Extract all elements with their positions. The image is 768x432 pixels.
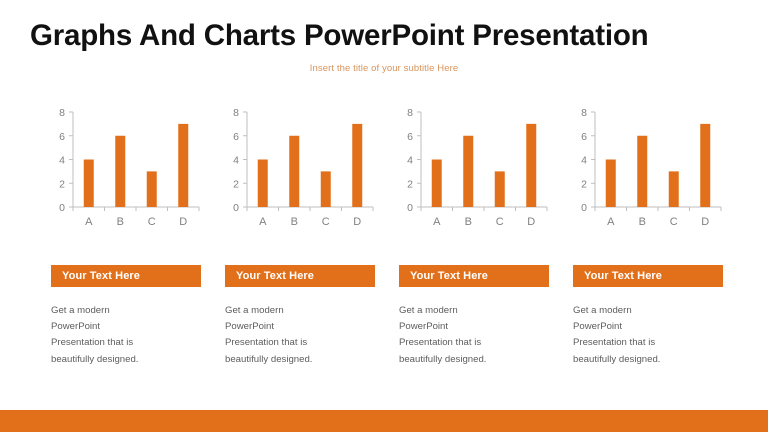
x-axis-category-label: C xyxy=(670,216,678,228)
y-axis-tick-label: 0 xyxy=(581,202,587,214)
x-axis-category-label: A xyxy=(259,216,267,228)
body-text-line: Presentation that is xyxy=(51,335,179,351)
y-axis-tick-label: 2 xyxy=(233,178,239,190)
slide: Graphs And Charts PowerPoint Presentatio… xyxy=(0,0,768,432)
y-axis-tick-label: 2 xyxy=(407,178,413,190)
bar-D[interactable] xyxy=(352,124,362,207)
bar-A[interactable] xyxy=(84,160,94,208)
body-text-line: Get a modern xyxy=(399,303,527,319)
y-axis-tick-label: 6 xyxy=(407,131,413,143)
x-axis-category-label: A xyxy=(433,216,441,228)
x-axis-category-label: D xyxy=(701,216,709,228)
body-text-2: Get a modernPowerPointPresentation that … xyxy=(225,303,353,368)
bar-chart-4[interactable]: 02468ABCD xyxy=(570,104,730,234)
x-axis-category-label: B xyxy=(117,216,124,228)
bar-B[interactable] xyxy=(637,136,647,207)
bar-chart-2[interactable]: 02468ABCD xyxy=(222,104,382,234)
body-text-1: Get a modernPowerPointPresentation that … xyxy=(51,303,179,368)
text-banner-2[interactable]: Your Text Here xyxy=(225,265,375,287)
body-text-line: beautifully designed. xyxy=(399,352,527,368)
bar-A[interactable] xyxy=(432,160,442,208)
bar-A[interactable] xyxy=(606,160,616,208)
chart-canvas: 02468ABCD xyxy=(570,104,730,234)
bar-D[interactable] xyxy=(526,124,536,207)
text-banner-1[interactable]: Your Text Here xyxy=(51,265,201,287)
x-axis-category-label: C xyxy=(322,216,330,228)
x-axis-category-label: D xyxy=(353,216,361,228)
text-banner-4[interactable]: Your Text Here xyxy=(573,265,723,287)
bar-C[interactable] xyxy=(495,171,505,207)
x-axis-category-label: B xyxy=(291,216,298,228)
body-text-line: beautifully designed. xyxy=(573,352,701,368)
y-axis-tick-label: 4 xyxy=(407,155,413,167)
chart-canvas: 02468ABCD xyxy=(48,104,208,234)
page-title: Graphs And Charts PowerPoint Presentatio… xyxy=(30,19,745,52)
y-axis-tick-label: 8 xyxy=(581,107,587,119)
bar-chart-3[interactable]: 02468ABCD xyxy=(396,104,556,234)
x-axis-category-label: C xyxy=(496,216,504,228)
text-banner-label: Your Text Here xyxy=(584,270,662,282)
body-text-line: PowerPoint xyxy=(573,319,701,335)
text-banner-label: Your Text Here xyxy=(410,270,488,282)
y-axis-tick-label: 8 xyxy=(233,107,239,119)
page-subtitle: Insert the title of your subtitle Here xyxy=(0,63,768,74)
body-text-line: beautifully designed. xyxy=(225,352,353,368)
y-axis-tick-label: 6 xyxy=(233,131,239,143)
y-axis-tick-label: 4 xyxy=(233,155,239,167)
bar-C[interactable] xyxy=(147,171,157,207)
charts-row: 02468ABCD 02468ABCD 02468ABCD 02468ABCD xyxy=(0,104,768,234)
x-axis-category-label: D xyxy=(179,216,187,228)
body-text-line: PowerPoint xyxy=(225,319,353,335)
y-axis-tick-label: 6 xyxy=(581,131,587,143)
bar-B[interactable] xyxy=(289,136,299,207)
x-axis-category-label: C xyxy=(148,216,156,228)
bar-B[interactable] xyxy=(463,136,473,207)
bar-A[interactable] xyxy=(258,160,268,208)
body-text-line: Get a modern xyxy=(225,303,353,319)
bar-C[interactable] xyxy=(321,171,331,207)
x-axis-category-label: A xyxy=(85,216,93,228)
y-axis-tick-label: 8 xyxy=(59,107,65,119)
body-text-3: Get a modernPowerPointPresentation that … xyxy=(399,303,527,368)
body-text-line: beautifully designed. xyxy=(51,352,179,368)
y-axis-tick-label: 2 xyxy=(581,178,587,190)
y-axis-tick-label: 0 xyxy=(233,202,239,214)
body-text-line: PowerPoint xyxy=(51,319,179,335)
x-axis-category-label: B xyxy=(465,216,472,228)
body-text-line: Get a modern xyxy=(573,303,701,319)
bar-D[interactable] xyxy=(700,124,710,207)
body-text-4: Get a modernPowerPointPresentation that … xyxy=(573,303,701,368)
y-axis-tick-label: 0 xyxy=(407,202,413,214)
y-axis-tick-label: 0 xyxy=(59,202,65,214)
x-axis-category-label: D xyxy=(527,216,535,228)
y-axis-tick-label: 6 xyxy=(59,131,65,143)
body-text-line: Get a modern xyxy=(51,303,179,319)
footer-accent-bar xyxy=(0,410,768,432)
body-text-line: Presentation that is xyxy=(399,335,527,351)
bar-chart-1[interactable]: 02468ABCD xyxy=(48,104,208,234)
body-text-line: Presentation that is xyxy=(573,335,701,351)
body-text-line: PowerPoint xyxy=(399,319,527,335)
bar-C[interactable] xyxy=(669,171,679,207)
text-banner-label: Your Text Here xyxy=(62,270,140,282)
body-text-line: Presentation that is xyxy=(225,335,353,351)
x-axis-category-label: B xyxy=(639,216,646,228)
bar-B[interactable] xyxy=(115,136,125,207)
chart-canvas: 02468ABCD xyxy=(396,104,556,234)
x-axis-category-label: A xyxy=(607,216,615,228)
y-axis-tick-label: 2 xyxy=(59,178,65,190)
text-banner-label: Your Text Here xyxy=(236,270,314,282)
bar-D[interactable] xyxy=(178,124,188,207)
y-axis-tick-label: 4 xyxy=(581,155,587,167)
y-axis-tick-label: 8 xyxy=(407,107,413,119)
chart-canvas: 02468ABCD xyxy=(222,104,382,234)
y-axis-tick-label: 4 xyxy=(59,155,65,167)
text-banner-3[interactable]: Your Text Here xyxy=(399,265,549,287)
